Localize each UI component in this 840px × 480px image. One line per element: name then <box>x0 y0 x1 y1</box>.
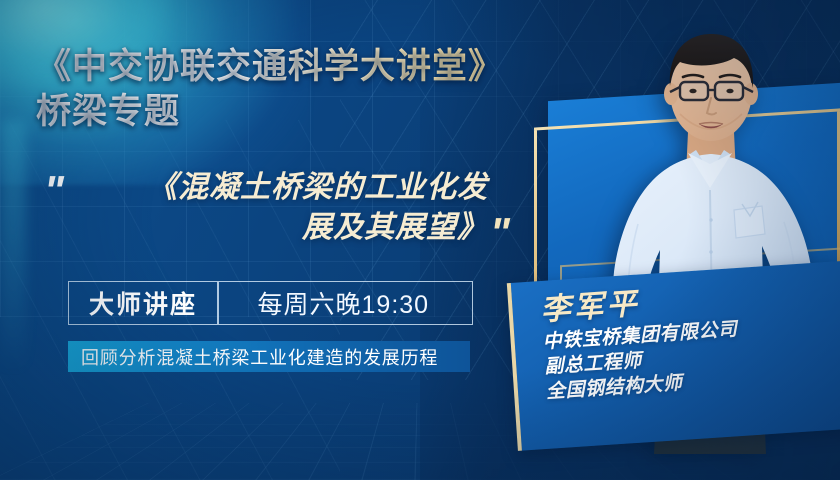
vignette-overlay <box>0 0 840 480</box>
lecture-promo-poster: 《中交协联交通科学大讲堂》 桥梁专题 " 《混凝土桥梁的工业化发 展及其展望》 … <box>0 0 840 480</box>
